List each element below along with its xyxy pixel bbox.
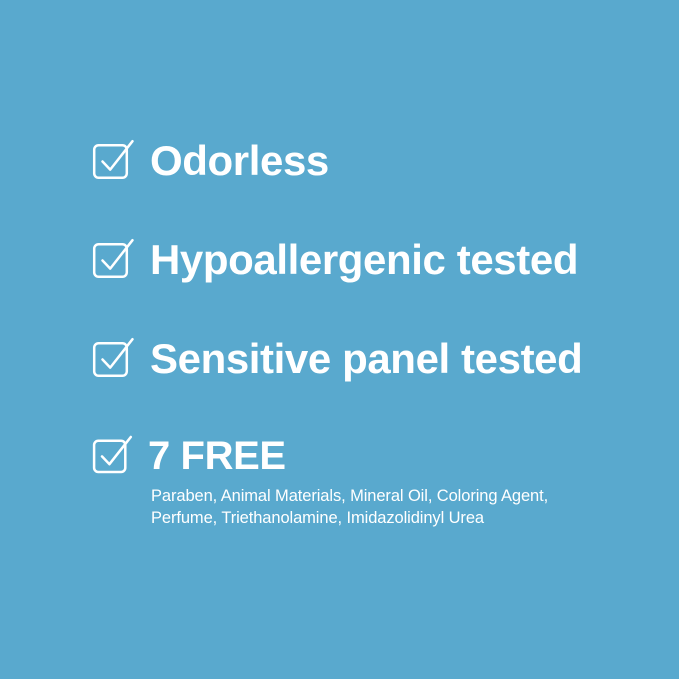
feature-body: Odorless (150, 136, 632, 186)
feature-item-hypoallergenic-tested: Hypoallergenic tested (92, 235, 632, 287)
checked-checkbox-icon (92, 237, 138, 287)
feature-label: Hypoallergenic tested (150, 235, 632, 285)
feature-body: 7 FREE Paraben, Animal Materials, Minera… (148, 433, 632, 529)
checked-checkbox-icon (92, 434, 136, 481)
feature-body: Sensitive panel tested (150, 334, 632, 384)
feature-label: 7 FREE (148, 433, 632, 479)
checked-checkbox-icon (92, 336, 138, 386)
feature-body: Hypoallergenic tested (150, 235, 632, 285)
feature-item-7-free: 7 FREE Paraben, Animal Materials, Minera… (92, 433, 632, 529)
checked-checkbox-icon (92, 138, 138, 188)
feature-label: Sensitive panel tested (150, 334, 632, 384)
feature-item-sensitive-panel-tested: Sensitive panel tested (92, 334, 632, 386)
feature-label: Odorless (150, 136, 632, 186)
free-ingredients-note: Paraben, Animal Materials, Mineral Oil, … (151, 485, 632, 529)
free-ingredients-line-2: Perfume, Triethanolamine, Imidazolidinyl… (151, 507, 632, 529)
feature-claims-panel: Odorless Hypoallergenic tested (0, 0, 679, 679)
feature-item-odorless: Odorless (92, 136, 632, 188)
free-ingredients-line-1: Paraben, Animal Materials, Mineral Oil, … (151, 485, 632, 507)
feature-list: Odorless Hypoallergenic tested (92, 136, 632, 529)
